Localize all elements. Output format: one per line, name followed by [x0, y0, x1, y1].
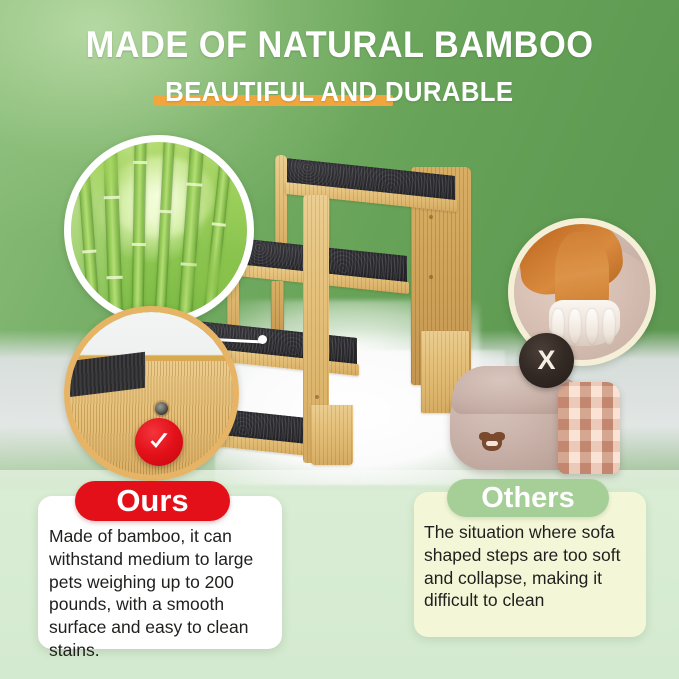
- others-description: The situation where sofa shaped steps ar…: [424, 521, 642, 612]
- promo-image: MADE OF NATURAL BAMBOO BEAUTIFUL AND DUR…: [0, 0, 679, 679]
- others-label-badge: Others: [447, 479, 609, 517]
- bear-face-embroidery-icon: [482, 434, 502, 451]
- checkmark-badge: [135, 418, 183, 466]
- bamboo-forest-ring: [64, 135, 254, 325]
- stairs-front-leg: [311, 405, 353, 465]
- check-icon: [146, 429, 172, 455]
- stairs-peg-1: [429, 215, 433, 219]
- page-title: MADE OF NATURAL BAMBOO: [24, 26, 655, 65]
- stairs-riser-1: [275, 155, 287, 255]
- subtitle-wrapper: BEAUTIFUL AND DURABLE: [150, 76, 529, 108]
- page-subtitle: BEAUTIFUL AND DURABLE: [165, 76, 513, 108]
- sofa-gingham-arm-panel: [558, 382, 620, 474]
- ours-description: Made of bamboo, it can withstand medium …: [49, 525, 273, 662]
- callout-line-endpoint: [258, 335, 267, 344]
- ours-label-badge: Ours: [75, 481, 230, 521]
- stairs-peg-3: [315, 395, 319, 399]
- stairs-peg-2: [429, 275, 433, 279]
- cross-badge: X: [519, 333, 574, 388]
- header-text-block: MADE OF NATURAL BAMBOO BEAUTIFUL AND DUR…: [0, 26, 679, 108]
